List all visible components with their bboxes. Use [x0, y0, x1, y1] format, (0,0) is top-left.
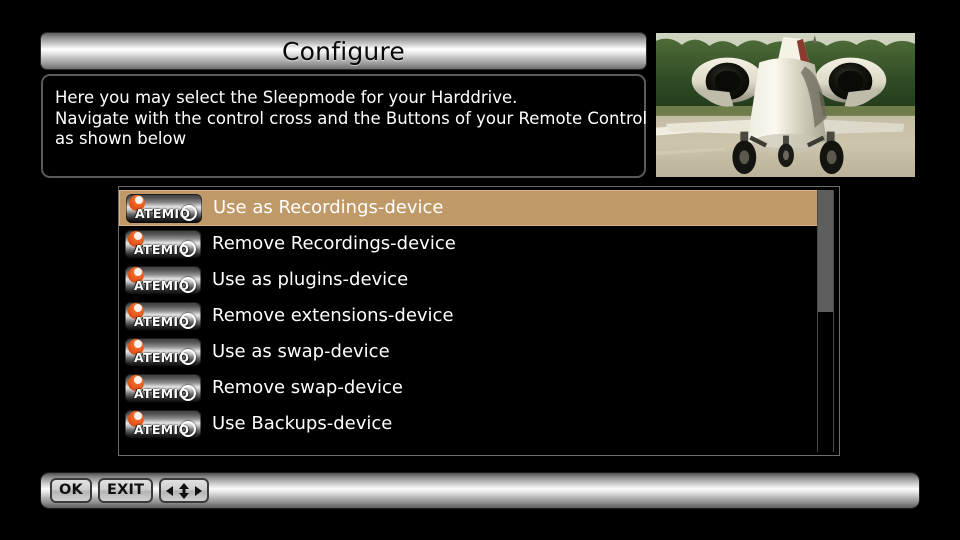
list-item-label: Use as swap-device: [212, 343, 390, 361]
logo-ring-icon: [180, 277, 196, 293]
tv-osd-screen: Configure Here you may select the Sleepm…: [0, 0, 960, 540]
list-item-label: Use as plugins-device: [212, 271, 408, 289]
list-item-label: Remove extensions-device: [212, 307, 454, 325]
list-item[interactable]: ATEMIO Remove swap-device: [119, 370, 824, 406]
list-item[interactable]: ATEMIO Use as swap-device: [119, 334, 824, 370]
preview-image-business-jet: [655, 32, 916, 178]
description-line-3: as shown below: [55, 129, 630, 150]
page-title: Configure: [282, 39, 405, 64]
description-line-2: Navigate with the control cross and the …: [55, 109, 630, 130]
list-item-label: Remove Recordings-device: [212, 235, 456, 253]
remote-key-bar: OK EXIT: [41, 473, 919, 508]
exit-button[interactable]: EXIT: [98, 478, 153, 503]
jet-illustration: [656, 33, 915, 177]
device-options-list[interactable]: ATEMIO Use as Recordings-device ATEMIO R…: [118, 186, 840, 456]
list-item-label: Use as Recordings-device: [213, 199, 444, 217]
logo-ring-icon: [180, 385, 196, 401]
logo-ring-icon: [181, 205, 197, 221]
atemio-logo-icon: ATEMIO: [126, 194, 202, 223]
atemio-logo-icon: ATEMIO: [125, 338, 201, 367]
logo-ring-icon: [180, 421, 196, 437]
atemio-logo-icon: ATEMIO: [125, 230, 201, 259]
logo-ring-icon: [180, 349, 196, 365]
list-rows: ATEMIO Use as Recordings-device ATEMIO R…: [119, 190, 824, 442]
scrollbar-thumb[interactable]: [818, 190, 833, 312]
atemio-logo-icon: ATEMIO: [125, 302, 201, 331]
list-scrollbar[interactable]: [817, 190, 834, 452]
list-item[interactable]: ATEMIO Remove extensions-device: [119, 298, 824, 334]
exit-button-label: EXIT: [107, 483, 144, 498]
atemio-logo-icon: ATEMIO: [125, 266, 201, 295]
list-item-label: Remove swap-device: [212, 379, 403, 397]
control-cross-icon: [164, 482, 204, 500]
list-item[interactable]: ATEMIO Use as Recordings-device: [119, 190, 823, 226]
list-item[interactable]: ATEMIO Use Backups-device: [119, 406, 824, 442]
list-item[interactable]: ATEMIO Remove Recordings-device: [119, 226, 824, 262]
atemio-logo-icon: ATEMIO: [125, 374, 201, 403]
logo-ring-icon: [180, 241, 196, 257]
control-cross-button[interactable]: [159, 478, 209, 503]
list-item-label: Use Backups-device: [212, 415, 392, 433]
window-title-bar: Configure: [41, 33, 646, 69]
atemio-logo-icon: ATEMIO: [125, 410, 201, 439]
ok-button[interactable]: OK: [50, 478, 92, 503]
description-panel: Here you may select the Sleepmode for yo…: [41, 74, 646, 178]
ok-button-label: OK: [59, 483, 83, 498]
logo-ring-icon: [180, 313, 196, 329]
description-line-1: Here you may select the Sleepmode for yo…: [55, 88, 630, 109]
list-item[interactable]: ATEMIO Use as plugins-device: [119, 262, 824, 298]
